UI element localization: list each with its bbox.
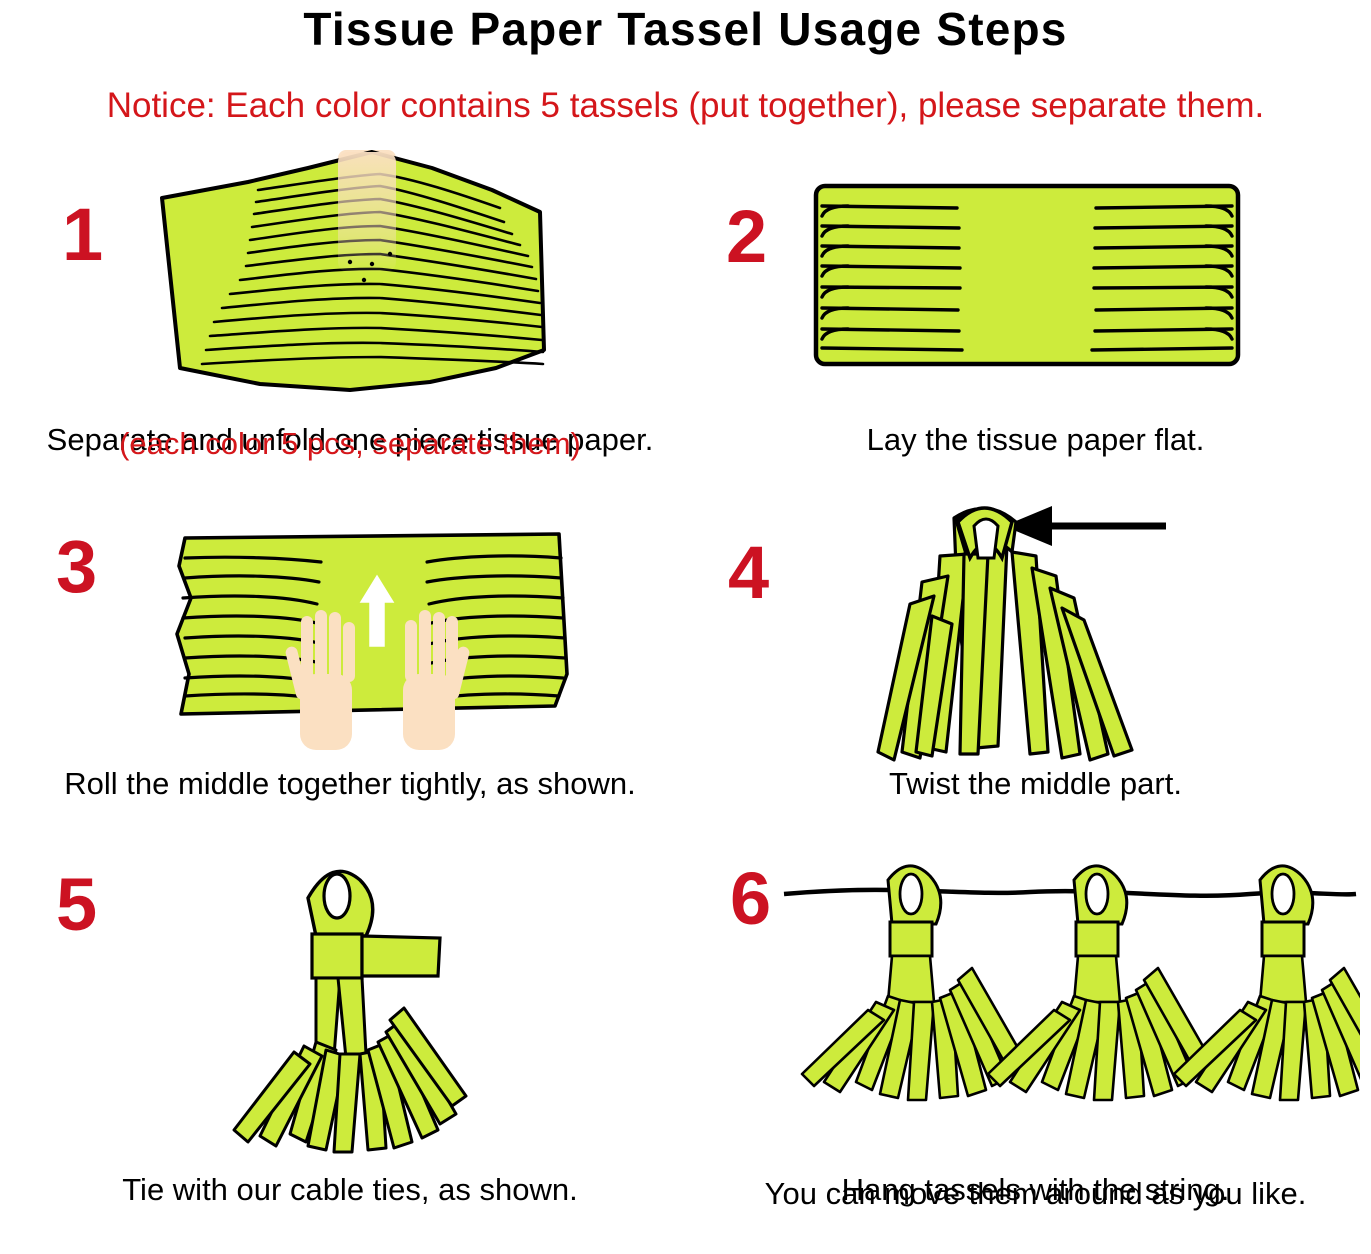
- step-5: 5: [0, 850, 700, 1254]
- step-3: 3: [0, 510, 700, 850]
- step-3-caption: Roll the middle together tightly, as sho…: [0, 764, 700, 804]
- step-2: 2: [700, 140, 1371, 510]
- step-number-3: 3: [56, 530, 97, 604]
- illustration-step-1: [140, 150, 600, 410]
- tassel-2: [988, 866, 1212, 1100]
- step-1: 1: [0, 140, 700, 510]
- pointer-arrow-icon: [1004, 506, 1166, 546]
- tassel-1: [802, 866, 1026, 1100]
- step-4-caption: Twist the middle part.: [700, 764, 1371, 804]
- steps-grid: 1: [0, 140, 1371, 1254]
- step-number-1: 1: [62, 198, 103, 272]
- illustration-step-4: [836, 496, 1236, 776]
- step-number-6: 6: [730, 862, 771, 936]
- step-number-2: 2: [726, 200, 767, 274]
- step-number-5: 5: [56, 868, 97, 942]
- step-6-caption-sub: You can move them around as you like.: [700, 1174, 1371, 1214]
- step-1-caption-sub: (each color 5 pcs, separate them): [0, 424, 700, 464]
- page-title: Tissue Paper Tassel Usage Steps: [0, 2, 1371, 56]
- notice-text: Notice: Each color contains 5 tassels (p…: [0, 86, 1371, 126]
- step-number-4: 4: [728, 536, 769, 610]
- illustration-step-2: [812, 182, 1242, 372]
- illustration-step-5: [190, 850, 530, 1170]
- step-5-caption: Tie with our cable ties, as shown.: [0, 1170, 700, 1210]
- step-2-caption: Lay the tissue paper flat.: [700, 420, 1371, 460]
- instruction-sheet: Tissue Paper Tassel Usage Steps Notice: …: [0, 0, 1371, 1254]
- illustration-step-3: [155, 524, 595, 754]
- cable-tie-icon: [312, 934, 440, 978]
- illustration-step-6: [780, 862, 1360, 1152]
- tassel-3: [1174, 866, 1360, 1100]
- step-6: 6: [700, 850, 1371, 1254]
- step-4: 4: [700, 510, 1371, 850]
